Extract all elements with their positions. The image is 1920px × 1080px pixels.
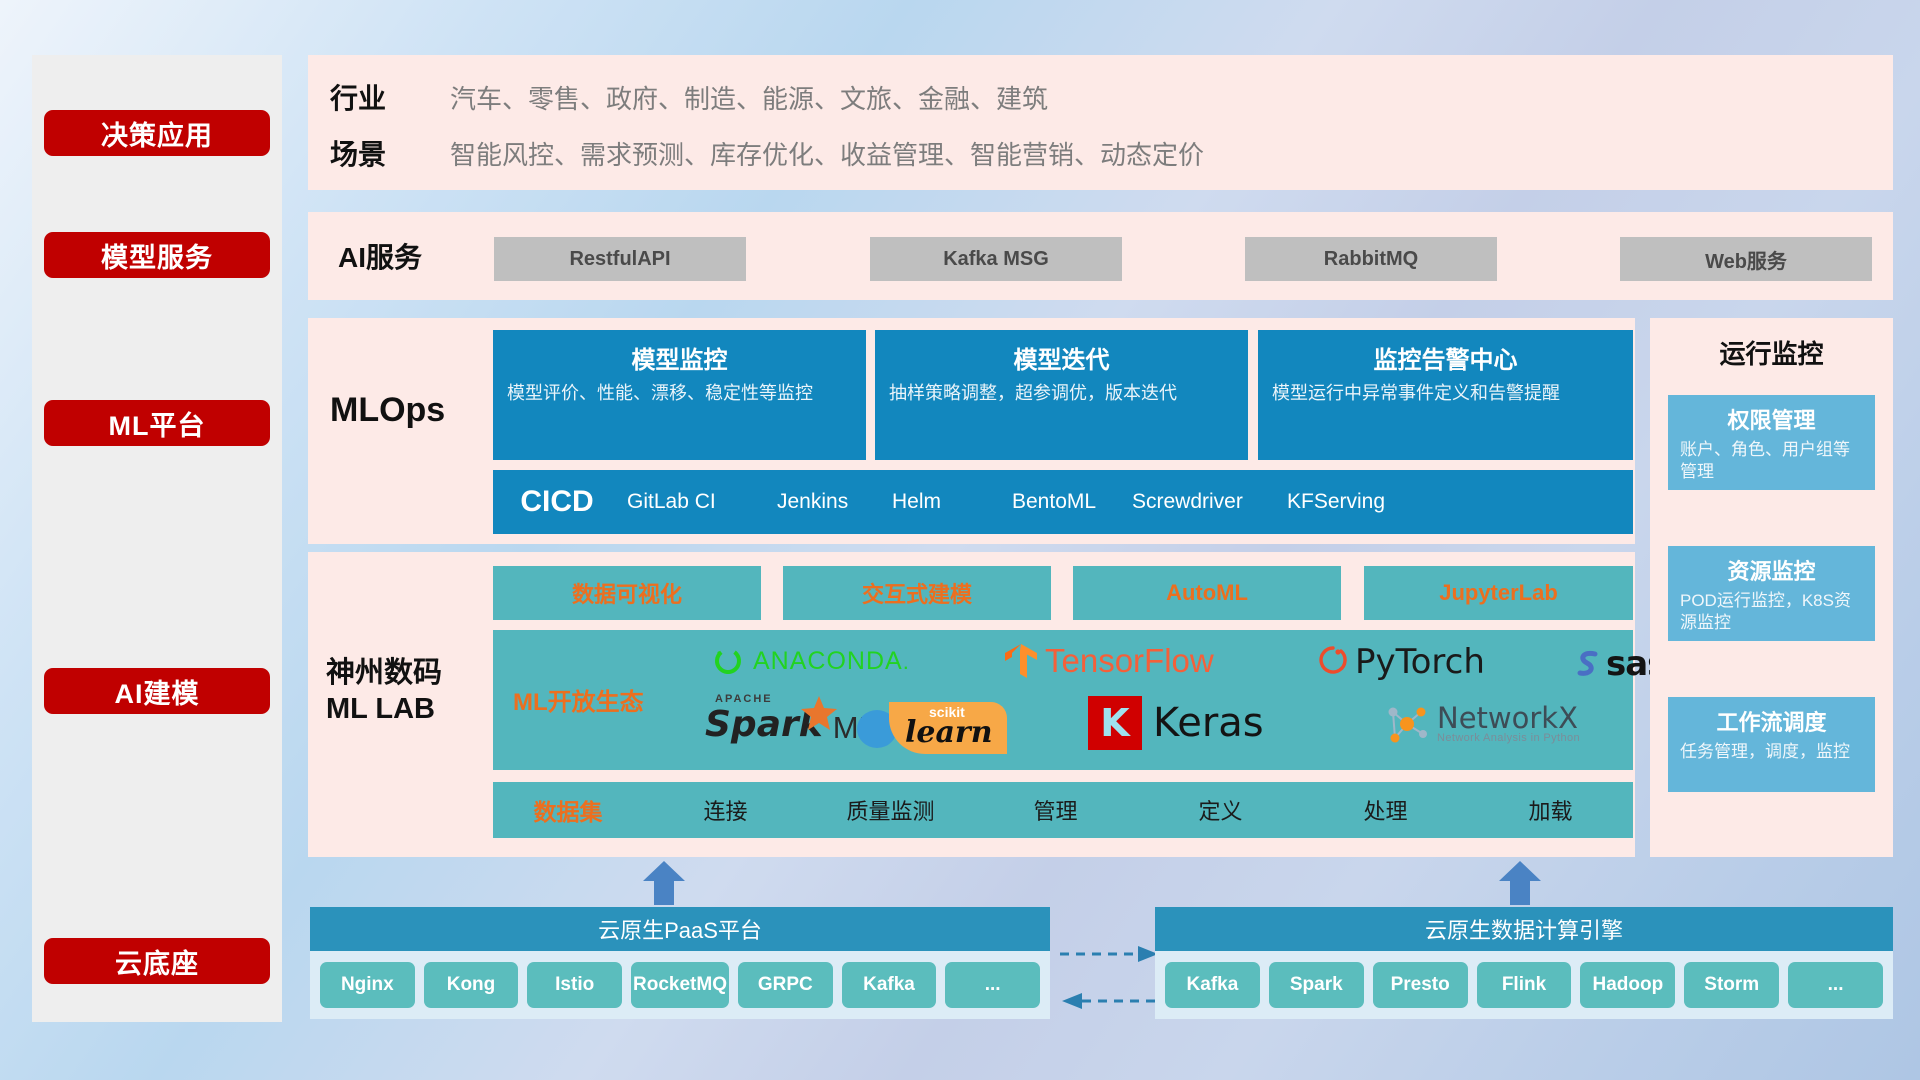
ai-service-label: AI服务 — [330, 212, 488, 300]
paas-chip-kafka[interactable]: Kafka — [842, 962, 937, 1008]
dataset-item-connect[interactable]: 连接 — [643, 794, 808, 826]
decision-row-industry: 行业 汽车、零售、政府、制造、能源、文旅、金融、建筑 — [330, 77, 1048, 117]
ml-ecosystem-band: ML开放生态 ANACONDA. APACHE Spark MLlib Tens… — [493, 630, 1633, 770]
card-desc: 账户、角色、用户组等管理 — [1680, 439, 1863, 483]
dataset-item-process[interactable]: 处理 — [1303, 794, 1468, 826]
engine-chip-presto[interactable]: Presto — [1373, 962, 1468, 1008]
paas-chip-nginx[interactable]: Nginx — [320, 962, 415, 1008]
engine-chip-flink[interactable]: Flink — [1477, 962, 1572, 1008]
card-desc: 模型评价、性能、漂移、稳定性等监控 — [507, 381, 852, 405]
tool-tile-data-visualization[interactable]: 数据可视化 — [493, 566, 761, 620]
dataset-head: 数据集 — [493, 793, 643, 827]
data-engine-chip-tray: Kafka Spark Presto Flink Hadoop Storm ..… — [1155, 951, 1893, 1019]
cicd-item-screwdriver[interactable]: Screwdriver — [1126, 490, 1281, 514]
monitor-card-permission[interactable]: 权限管理 账户、角色、用户组等管理 — [1668, 395, 1875, 490]
engine-chip-hadoop[interactable]: Hadoop — [1580, 962, 1675, 1008]
service-chip-kafka-msg[interactable]: Kafka MSG — [870, 237, 1122, 281]
card-title: 模型监控 — [507, 340, 852, 375]
service-chip-rabbitmq[interactable]: RabbitMQ — [1245, 237, 1497, 281]
cicd-item-gitlab-ci[interactable]: GitLab CI — [621, 490, 771, 514]
paas-chip-rocketmq[interactable]: RocketMQ — [631, 962, 729, 1008]
tool-tile-interactive-modeling[interactable]: 交互式建模 — [783, 566, 1051, 620]
card-desc: 任务管理，调度，监控 — [1680, 741, 1863, 763]
mlops-card-alert-center[interactable]: 监控告警中心 模型运行中异常事件定义和告警提醒 — [1258, 330, 1633, 460]
cicd-bar: CICD GitLab CI Jenkins Helm BentoML Scre… — [493, 470, 1633, 534]
dataset-item-define[interactable]: 定义 — [1138, 794, 1303, 826]
sidebar-item-label: AI建模 — [115, 672, 200, 711]
mlops-card-model-iteration[interactable]: 模型迭代 抽样策略调整，超参调优，版本迭代 — [875, 330, 1248, 460]
dashed-arrow-right-icon — [1060, 944, 1160, 969]
monitor-card-workflow[interactable]: 工作流调度 任务管理，调度，监控 — [1668, 697, 1875, 792]
runtime-monitoring-title: 运行监控 — [1650, 330, 1893, 374]
sidebar-item-ml-platform[interactable]: ML平台 — [44, 400, 270, 446]
service-chip-restfulapi[interactable]: RestfulAPI — [494, 237, 746, 281]
dataset-band: 数据集 连接 质量监测 管理 定义 处理 加载 — [493, 782, 1633, 838]
up-arrow-data-engine-icon — [1497, 861, 1543, 910]
card-title: 权限管理 — [1680, 403, 1863, 435]
cicd-item-kfserving[interactable]: KFServing — [1281, 490, 1421, 514]
paas-platform-header: 云原生PaaS平台 — [310, 907, 1050, 951]
decision-application-panel: 行业 汽车、零售、政府、制造、能源、文旅、金融、建筑 场景 智能风控、需求预测、… — [308, 55, 1893, 190]
cicd-title: CICD — [493, 485, 621, 519]
sidebar-item-label: 决策应用 — [101, 114, 213, 153]
sidebar-item-label: 模型服务 — [101, 236, 213, 275]
decision-row-value: 汽车、零售、政府、制造、能源、文旅、金融、建筑 — [450, 79, 1048, 116]
service-chip-web-service[interactable]: Web服务 — [1620, 237, 1872, 281]
paas-chip-tray: Nginx Kong Istio RocketMQ GRPC Kafka ... — [310, 951, 1050, 1019]
paas-chip-grpc[interactable]: GRPC — [738, 962, 833, 1008]
cicd-item-jenkins[interactable]: Jenkins — [771, 490, 886, 514]
tensorflow-logo: TensorFlow — [1003, 642, 1214, 680]
dataset-item-quality[interactable]: 质量监测 — [808, 794, 973, 826]
keras-logo: K Keras — [1088, 696, 1264, 750]
card-desc: 模型运行中异常事件定义和告警提醒 — [1272, 381, 1619, 405]
sidebar-item-label: ML平台 — [109, 404, 206, 443]
layer-rail: 决策应用 模型服务 ML平台 AI建模 云底座 — [32, 55, 282, 1022]
engine-chip-spark[interactable]: Spark — [1269, 962, 1364, 1008]
paas-chip-more[interactable]: ... — [945, 962, 1040, 1008]
sidebar-item-label: 云底座 — [115, 942, 199, 981]
engine-chip-kafka[interactable]: Kafka — [1165, 962, 1260, 1008]
decision-row-key: 场景 — [330, 133, 450, 173]
sidebar-item-decision-app[interactable]: 决策应用 — [44, 110, 270, 156]
dataset-item-manage[interactable]: 管理 — [973, 794, 1138, 826]
ml-lab-label: 神州数码 ML LAB — [326, 655, 501, 728]
card-desc: 抽样策略调整，超参调优，版本迭代 — [889, 381, 1234, 405]
sidebar-item-model-service[interactable]: 模型服务 — [44, 232, 270, 278]
sidebar-item-cloud-base[interactable]: 云底座 — [44, 938, 270, 984]
dashed-arrow-left-icon — [1060, 991, 1160, 1016]
scikit-learn-logo: scikit learn — [855, 702, 1007, 754]
ml-lab-label-line2: ML LAB — [326, 693, 435, 725]
tool-tile-automl[interactable]: AutoML — [1073, 566, 1341, 620]
networkx-logo: NetworkX Network Analysis in Python — [1381, 700, 1580, 748]
tool-tile-jupyterlab[interactable]: JupyterLab — [1364, 566, 1633, 620]
monitor-card-resource[interactable]: 资源监控 POD运行监控，K8S资源监控 — [1668, 546, 1875, 641]
diagram-canvas: 决策应用 模型服务 ML平台 AI建模 云底座 行业 汽车、零售、政府、制造、能… — [0, 0, 1920, 1080]
card-title: 模型迭代 — [889, 340, 1234, 375]
decision-row-value: 智能风控、需求预测、库存优化、收益管理、智能营销、动态定价 — [450, 135, 1204, 172]
pytorch-logo: PyTorch — [1318, 642, 1485, 682]
engine-chip-more[interactable]: ... — [1788, 962, 1883, 1008]
data-engine-header: 云原生数据计算引擎 — [1155, 907, 1893, 951]
card-desc: POD运行监控，K8S资源监控 — [1680, 590, 1863, 634]
mlops-label: MLOps — [330, 380, 490, 440]
card-title: 资源监控 — [1680, 554, 1863, 586]
card-title: 监控告警中心 — [1272, 340, 1619, 375]
decision-row-key: 行业 — [330, 77, 450, 117]
decision-row-scenario: 场景 智能风控、需求预测、库存优化、收益管理、智能营销、动态定价 — [330, 133, 1204, 173]
cicd-item-helm[interactable]: Helm — [886, 490, 1006, 514]
sidebar-item-ai-modeling[interactable]: AI建模 — [44, 668, 270, 714]
paas-chip-kong[interactable]: Kong — [424, 962, 519, 1008]
up-arrow-paas-icon — [641, 861, 687, 910]
ml-lab-label-line1: 神州数码 — [326, 657, 442, 689]
cicd-item-bentoml[interactable]: BentoML — [1006, 490, 1126, 514]
engine-chip-storm[interactable]: Storm — [1684, 962, 1779, 1008]
card-title: 工作流调度 — [1680, 705, 1863, 737]
dataset-item-load[interactable]: 加载 — [1468, 794, 1633, 826]
anaconda-logo: ANACONDA. — [711, 644, 910, 678]
mlops-card-model-monitoring[interactable]: 模型监控 模型评价、性能、漂移、稳定性等监控 — [493, 330, 866, 460]
paas-chip-istio[interactable]: Istio — [527, 962, 622, 1008]
ml-ecosystem-label: ML开放生态 — [513, 682, 693, 717]
